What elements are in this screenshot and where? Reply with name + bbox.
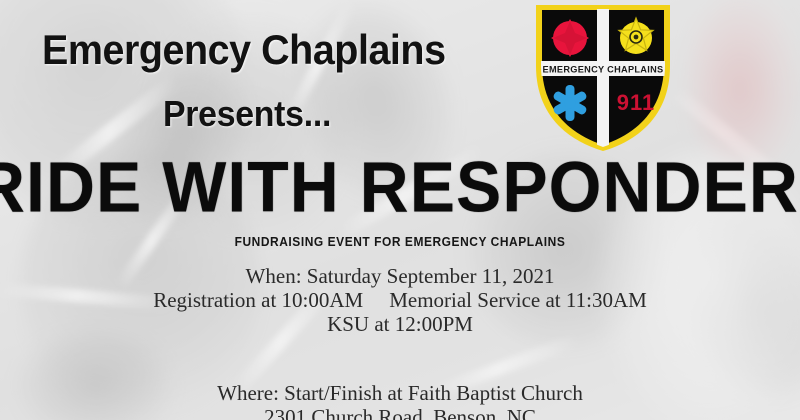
event-subtitle: FUNDRAISING EVENT FOR EMERGENCY CHAPLAIN… bbox=[32, 234, 768, 249]
detail-registration: Registration at 10:00AM bbox=[153, 288, 363, 312]
911-text: 911 bbox=[617, 90, 656, 115]
detail-memorial-service: Memorial Service at 11:30AM bbox=[389, 288, 647, 312]
organization-name: Emergency Chaplains bbox=[42, 29, 446, 71]
detail-times-row: Registration at 10:00AMMemorial Service … bbox=[0, 288, 800, 312]
shield-badge-icon: EMERGENCY CHAPLAINS 911 bbox=[533, 3, 673, 151]
event-location: Where: Start/Finish at Faith Baptist Chu… bbox=[0, 381, 800, 420]
flyer-canvas: Emergency Chaplains Presents... RIDE WIT… bbox=[0, 0, 800, 420]
detail-when: When: Saturday September 11, 2021 bbox=[0, 264, 800, 288]
presents-label: Presents... bbox=[163, 96, 331, 132]
event-title: RIDE WITH RESPONDERS bbox=[0, 151, 800, 223]
badge-band-text: EMERGENCY CHAPLAINS bbox=[543, 65, 664, 75]
badge-cross-vertical bbox=[597, 7, 609, 149]
location-address: 2301 Church Road, Benson, NC bbox=[0, 405, 800, 420]
event-details: When: Saturday September 11, 2021 Regist… bbox=[0, 264, 800, 336]
flyer-content: Emergency Chaplains Presents... RIDE WIT… bbox=[0, 0, 800, 420]
emergency-chaplains-logo: EMERGENCY CHAPLAINS 911 bbox=[533, 3, 673, 151]
detail-ksu: KSU at 12:00PM bbox=[0, 312, 800, 336]
location-venue: Where: Start/Finish at Faith Baptist Chu… bbox=[0, 381, 800, 405]
